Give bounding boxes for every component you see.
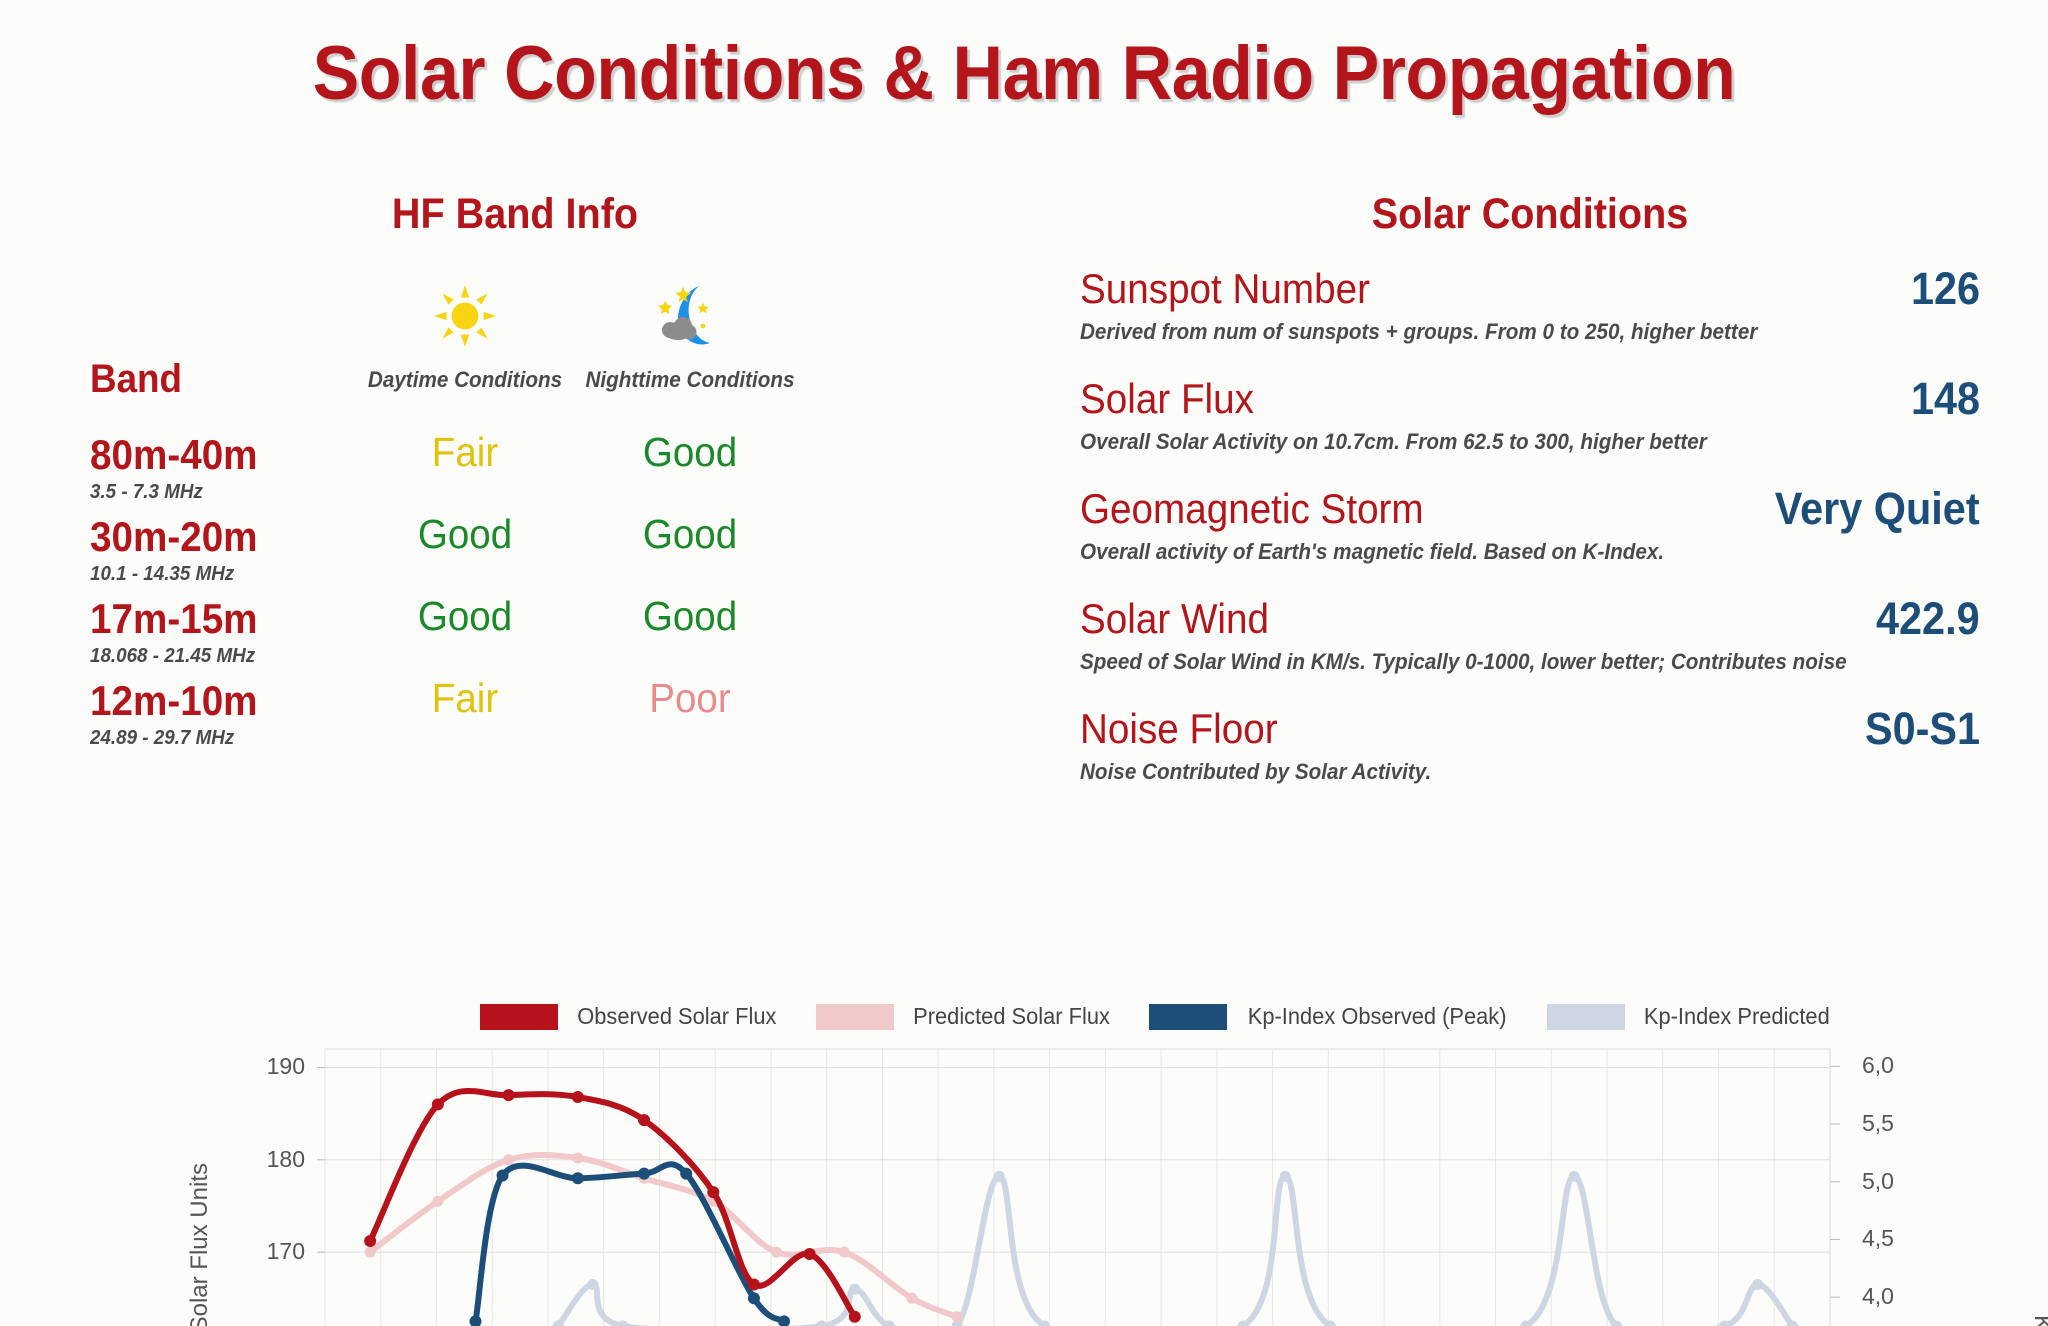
legend-swatch [1149, 1004, 1227, 1030]
band-nighttime-condition: Good [568, 593, 812, 640]
y-axis-tick-right: 6,0 [1862, 1052, 1894, 1079]
band-frequency-range: 18.068 - 21.45 MHz [90, 645, 255, 668]
y-axis-tick-right: 5,5 [1862, 1110, 1894, 1137]
band-frequency-range: 24.89 - 29.7 MHz [90, 727, 234, 750]
solar-condition-label: Solar Wind [1080, 595, 1269, 643]
band-nighttime-condition: Poor [568, 675, 812, 722]
hf-band-info-panel: HF Band Info Band [60, 190, 820, 759]
column-header-band: Band [90, 357, 182, 402]
page-title: Solar Conditions & Ham Radio Propagation [82, 30, 1966, 117]
band-frequency-range: 10.1 - 14.35 MHz [90, 563, 234, 586]
solar-condition-row: Solar FluxOverall Solar Activity on 10.7… [1080, 375, 1980, 463]
solar-condition-description: Speed of Solar Wind in KM/s. Typically 0… [1080, 649, 1847, 675]
band-daytime-condition: Good [343, 511, 587, 558]
band-daytime-condition: Fair [343, 429, 587, 476]
legend-swatch [480, 1004, 558, 1030]
legend-label: Kp-Index Observed (Peak) [1248, 1003, 1507, 1030]
legend-item[interactable]: Observed Solar Flux [480, 1003, 782, 1030]
solar-condition-label: Noise Floor [1080, 705, 1278, 753]
solar-panel-heading: Solar Conditions [1116, 190, 1944, 239]
chart-plot-area: 190180170 6,05,55,04,54,0 Solar Flux Uni… [0, 1045, 2048, 1326]
solar-condition-description: Noise Contributed by Solar Activity. [1080, 759, 1431, 785]
solar-condition-description: Overall Solar Activity on 10.7cm. From 6… [1080, 429, 1707, 455]
solar-rows-container: Sunspot NumberDerived from num of sunspo… [1080, 265, 1980, 793]
sun-icon [335, 279, 595, 353]
chart-legend: Observed Solar FluxPredicted Solar FluxK… [480, 1003, 1660, 1030]
solar-condition-description: Overall activity of Earth's magnetic fie… [1080, 539, 1664, 565]
band-nighttime-condition: Good [568, 429, 812, 476]
solar-condition-row: Sunspot NumberDerived from num of sunspo… [1080, 265, 1980, 353]
solar-condition-description: Derived from num of sunspots + groups. F… [1080, 319, 1757, 345]
propagation-chart: Observed Solar FluxPredicted Solar FluxK… [0, 995, 2048, 1326]
band-name: 30m-20m [90, 513, 258, 561]
band-row: 30m-20m10.1 - 14.35 MHzGoodGood [60, 513, 820, 595]
band-daytime-condition: Good [343, 593, 587, 640]
chart-ylabel-right: Kp [2028, 1315, 2048, 1326]
solar-condition-label: Geomagnetic Storm [1080, 485, 1424, 533]
y-axis-tick-left: 170 [267, 1238, 305, 1265]
column-header-nighttime: Nighttime Conditions [560, 279, 820, 393]
legend-swatch [816, 1004, 894, 1030]
solar-conditions-panel: Solar Conditions Sunspot NumberDerived f… [1080, 190, 1980, 793]
solar-condition-label: Solar Flux [1080, 375, 1254, 423]
band-name: 12m-10m [90, 677, 258, 725]
legend-item[interactable]: Kp-Index Predicted [1547, 1003, 1835, 1030]
solar-condition-row: Noise FloorNoise Contributed by Solar Ac… [1080, 705, 1980, 793]
nighttime-caption: Nighttime Conditions [568, 367, 812, 393]
solar-condition-row: Solar WindSpeed of Solar Wind in KM/s. T… [1080, 595, 1980, 683]
solar-condition-value: 422.9 [1876, 593, 1980, 645]
band-rows-container: 80m-40m3.5 - 7.3 MHzFairGood30m-20m10.1 … [60, 431, 820, 759]
legend-label: Kp-Index Predicted [1644, 1003, 1830, 1030]
solar-condition-value: 126 [1911, 263, 1980, 315]
y-axis-tick-right: 4,0 [1862, 1283, 1894, 1310]
moon-cloud-stars-icon [560, 279, 820, 353]
band-daytime-condition: Fair [343, 675, 587, 722]
column-header-daytime: Daytime Conditions [335, 279, 595, 393]
chart-svg [0, 1045, 2048, 1326]
legend-label: Predicted Solar Flux [913, 1003, 1110, 1030]
band-name: 17m-15m [90, 595, 258, 643]
solar-condition-row: Geomagnetic StormOverall activity of Ear… [1080, 485, 1980, 573]
band-row: 17m-15m18.068 - 21.45 MHzGoodGood [60, 595, 820, 677]
legend-swatch [1547, 1004, 1625, 1030]
legend-label: Observed Solar Flux [577, 1003, 776, 1030]
solar-condition-value: 148 [1911, 373, 1980, 425]
y-axis-tick-left: 180 [267, 1146, 305, 1173]
daytime-caption: Daytime Conditions [343, 367, 587, 393]
y-axis-tick-left: 190 [267, 1053, 305, 1080]
band-row: 80m-40m3.5 - 7.3 MHzFairGood [60, 431, 820, 513]
band-row: 12m-10m24.89 - 29.7 MHzFairPoor [60, 677, 820, 759]
hf-table-header: Band Daytime Cond [60, 261, 820, 431]
band-name: 80m-40m [90, 431, 258, 479]
band-frequency-range: 3.5 - 7.3 MHz [90, 481, 203, 504]
hf-panel-heading: HF Band Info [234, 190, 795, 239]
y-axis-tick-right: 5,0 [1862, 1168, 1894, 1195]
solar-condition-value: S0-S1 [1865, 703, 1980, 755]
y-axis-tick-right: 4,5 [1862, 1225, 1894, 1252]
legend-item[interactable]: Predicted Solar Flux [816, 1003, 1115, 1030]
solar-condition-value: Very Quiet [1775, 483, 1980, 535]
chart-ylabel-left: Solar Flux Units [186, 1163, 214, 1326]
solar-condition-label: Sunspot Number [1080, 265, 1370, 313]
band-nighttime-condition: Good [568, 511, 812, 558]
legend-item[interactable]: Kp-Index Observed (Peak) [1149, 1003, 1513, 1030]
